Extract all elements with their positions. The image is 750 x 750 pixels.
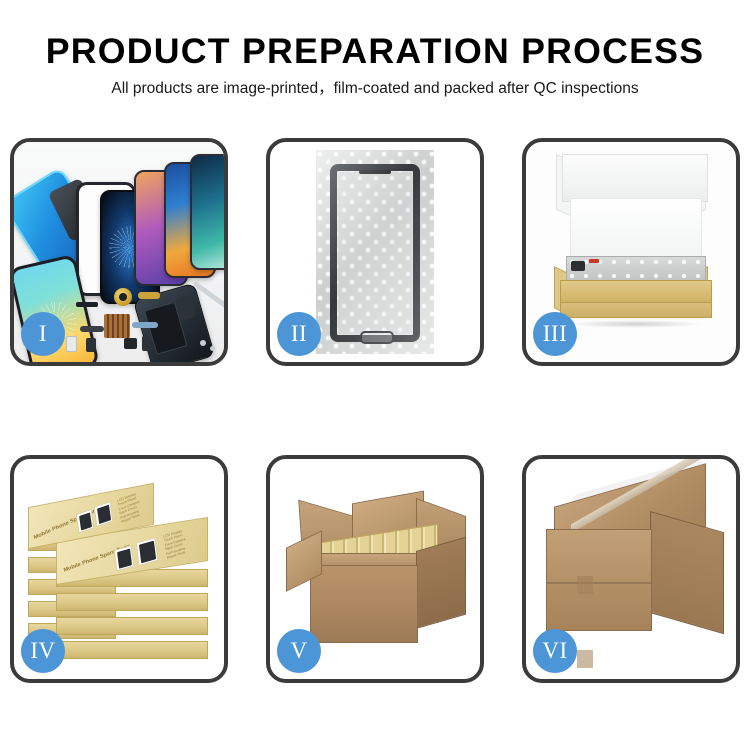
step-badge-5: V (277, 629, 321, 673)
screw-icon (200, 340, 206, 346)
battery-part-icon (142, 336, 151, 351)
carton-tab (577, 576, 593, 594)
flex-cable-blue-icon (132, 322, 158, 328)
step-panel-2: II (266, 138, 484, 366)
box-label-screen-image (114, 545, 135, 571)
stacked-box (56, 593, 208, 611)
flex-cable-dark-icon (80, 326, 104, 332)
box-label-screen-image (136, 537, 159, 566)
sealed-carton-icon (546, 485, 724, 647)
step-panel-4: Mobile Phone Spare Parts LCD Display Tou… (10, 455, 228, 683)
box-label-screen-image (94, 501, 114, 527)
page-subtitle: All products are image-printed，film-coat… (0, 81, 750, 97)
kraft-box-front (560, 302, 712, 318)
red-marker (589, 259, 599, 263)
speaker-part-icon (76, 302, 98, 307)
step-badge-1: I (21, 312, 65, 356)
step-badge-6: VI (533, 629, 577, 673)
box-label-checklist: LCD Display Touch Panel Front Camera Bac… (163, 528, 188, 560)
stacked-box (56, 617, 208, 635)
header: PRODUCT PREPARATION PROCESS All products… (0, 0, 750, 97)
step-panel-3: III (522, 138, 740, 366)
box-lid (562, 154, 708, 202)
carton-right-panel (650, 511, 724, 634)
button-part-icon (86, 338, 96, 352)
screw-icon (210, 346, 215, 351)
box-label-screen-image (76, 509, 95, 534)
stacked-box (56, 641, 208, 659)
coil-part-icon (114, 288, 132, 306)
steps-grid: I II (10, 138, 740, 683)
step-badge-3: III (533, 312, 577, 356)
step-badge-2: II (277, 312, 321, 356)
flex-cable-icon (138, 292, 160, 299)
foam-insert (570, 198, 702, 262)
product-preparation-infographic: PRODUCT PREPARATION PROCESS All products… (0, 0, 750, 750)
connector-grid-icon (104, 314, 130, 338)
carton-tab (577, 650, 593, 668)
wrap-sheen (316, 150, 434, 354)
teal-display-icon (190, 154, 224, 270)
box-shadow (566, 320, 704, 328)
bubble-wrapped-screen-icon (316, 150, 434, 354)
carton-side-panel (416, 537, 466, 629)
step-panel-1: I (10, 138, 228, 366)
step-badge-4: IV (21, 629, 65, 673)
camera-module-icon (124, 338, 137, 349)
carton-front-panel (310, 565, 418, 643)
open-carton-icon (292, 493, 468, 647)
step-panel-5: V (266, 455, 484, 683)
carton-front-panel (546, 529, 652, 631)
step-panel-6: VI (522, 455, 740, 683)
white-part-icon (66, 336, 77, 352)
page-title: PRODUCT PREPARATION PROCESS (0, 34, 750, 69)
box-label-checklist: LCD Display Touch Panel Front Camera Bac… (117, 491, 143, 524)
carton-seam (547, 582, 651, 584)
